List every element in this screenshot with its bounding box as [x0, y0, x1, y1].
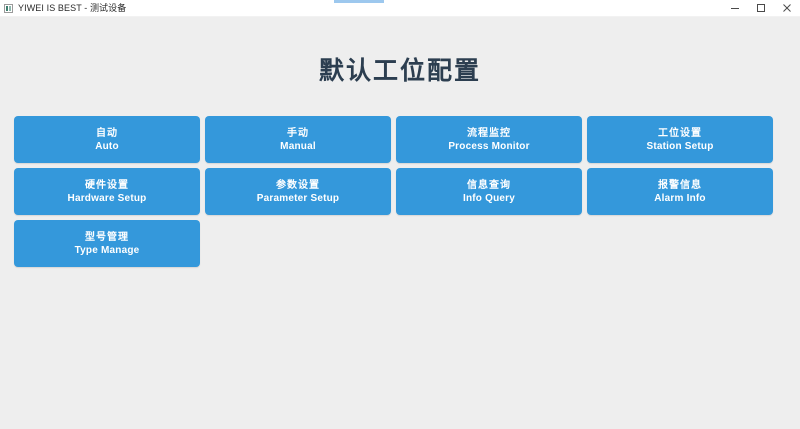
menu-button-label-en: Manual: [280, 140, 316, 153]
menu-button-label-en: Hardware Setup: [68, 192, 147, 205]
menu-button-parameter-setup[interactable]: 参数设置 Parameter Setup: [205, 168, 391, 215]
title-bar-left: YIWEI IS BEST - 测试设备: [0, 3, 126, 14]
menu-button-hardware-setup[interactable]: 硬件设置 Hardware Setup: [14, 168, 200, 215]
window-controls: [722, 0, 800, 17]
menu-button-info-query[interactable]: 信息查询 Info Query: [396, 168, 582, 215]
menu-button-label-en: Type Manage: [75, 244, 140, 257]
menu-button-label-en: Info Query: [463, 192, 515, 205]
menu-button-alarm-info[interactable]: 报警信息 Alarm Info: [587, 168, 773, 215]
menu-button-label-cn: 工位设置: [658, 127, 702, 140]
menu-button-label-cn: 报警信息: [658, 179, 702, 192]
menu-button-station-setup[interactable]: 工位设置 Station Setup: [587, 116, 773, 163]
menu-button-label-cn: 信息查询: [467, 179, 511, 192]
top-accent-bar: [334, 0, 384, 3]
menu-button-label-cn: 流程监控: [467, 127, 511, 140]
menu-button-label-cn: 硬件设置: [85, 179, 129, 192]
menu-button-process-monitor[interactable]: 流程监控 Process Monitor: [396, 116, 582, 163]
menu-button-label-cn: 参数设置: [276, 179, 320, 192]
app-logo-icon: [4, 4, 13, 13]
maximize-icon[interactable]: [748, 0, 774, 17]
menu-button-type-manage[interactable]: 型号管理 Type Manage: [14, 220, 200, 267]
page-title: 默认工位配置: [0, 55, 800, 87]
menu-button-label-en: Process Monitor: [448, 140, 529, 153]
title-bar[interactable]: YIWEI IS BEST - 测试设备: [0, 0, 800, 17]
menu-button-label-en: Auto: [95, 140, 119, 153]
client-area: 默认工位配置 自动 Auto 手动 Manual 流程监控 Process Mo…: [0, 17, 800, 429]
menu-button-label-en: Station Setup: [646, 140, 713, 153]
window-title: YIWEI IS BEST - 测试设备: [18, 3, 126, 14]
menu-button-label-en: Alarm Info: [654, 192, 705, 205]
menu-button-manual[interactable]: 手动 Manual: [205, 116, 391, 163]
menu-button-label-cn: 型号管理: [85, 231, 129, 244]
menu-button-auto[interactable]: 自动 Auto: [14, 116, 200, 163]
main-menu-grid: 自动 Auto 手动 Manual 流程监控 Process Monitor 工…: [14, 116, 784, 267]
menu-button-label-cn: 自动: [96, 127, 118, 140]
minimize-icon[interactable]: [722, 0, 748, 17]
application-window: YIWEI IS BEST - 测试设备 默认: [0, 0, 800, 429]
menu-button-label-en: Parameter Setup: [257, 192, 339, 205]
menu-button-label-cn: 手动: [287, 127, 309, 140]
close-icon[interactable]: [774, 0, 800, 17]
